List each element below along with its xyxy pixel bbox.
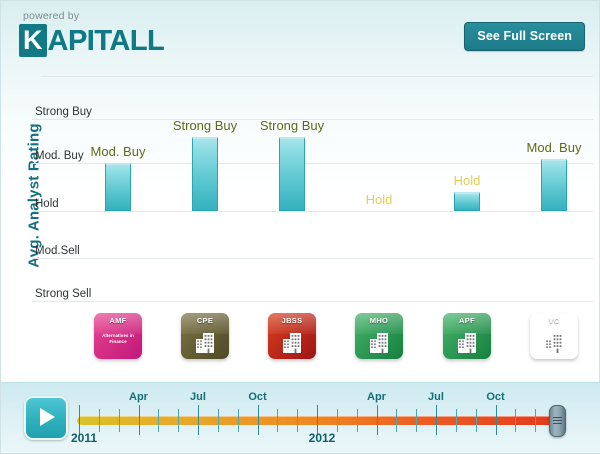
gridline: [32, 211, 593, 212]
ticker-symbol-label: MHO: [355, 316, 403, 325]
ticker-symbol-label: VC: [530, 316, 578, 325]
bar-value-label: Mod. Buy: [527, 140, 582, 155]
timeline-tick-major: [377, 405, 378, 435]
timeline-month-label: Jul: [190, 391, 206, 403]
kapitall-widget: powered by KAPITALL See Full Screen Avg.…: [0, 0, 600, 454]
bar-cpe[interactable]: [192, 137, 218, 211]
building-icon: [543, 331, 565, 353]
ticker-symbol-label: CPE: [181, 316, 229, 325]
timeline-slider-handle[interactable]: [549, 405, 566, 437]
bar-value-label: Hold: [366, 192, 393, 207]
timeline-tick-minor: [456, 409, 457, 432]
building-icon: [281, 331, 303, 353]
bar-value-label: Hold: [454, 173, 481, 188]
timeline-tick-major: [198, 405, 199, 435]
y-axis-tick-label: Mod.Sell: [35, 245, 80, 257]
timeline-tick-minor: [337, 409, 338, 432]
y-axis-tick-label: Strong Sell: [35, 288, 91, 300]
timeline-tick-minor: [396, 409, 397, 432]
timeline-tick-minor: [119, 409, 120, 432]
see-full-screen-button[interactable]: See Full Screen: [464, 22, 585, 51]
plot-area: Strong BuyMod. BuyHoldMod.SellStrong Sel…: [1, 69, 600, 309]
ticker-icon-cpe[interactable]: CPE: [181, 313, 229, 359]
bar-amf[interactable]: [105, 163, 131, 211]
kapitall-logo: KAPITALL: [19, 24, 164, 57]
ticker-icon-vc[interactable]: VC: [530, 313, 578, 359]
timeline-tick-minor: [178, 409, 179, 432]
ticker-symbol-label: AMF: [94, 316, 142, 325]
ticker-icon-amf[interactable]: AMFAlternatives in Finance: [94, 313, 142, 359]
timeline-month-label: Apr: [367, 391, 386, 403]
bar-vc[interactable]: [541, 159, 567, 211]
logo-initial: K: [19, 24, 47, 57]
timeline-tick-minor: [416, 409, 417, 432]
timeline-tick-major: [139, 405, 140, 435]
header: powered by KAPITALL See Full Screen: [1, 1, 600, 69]
logo-wordmark: APITALL: [48, 26, 165, 56]
grip-line: [553, 423, 562, 424]
bar-value-label: Strong Buy: [260, 118, 324, 133]
timeline-control: AprJulOctAprJulOct20112012: [1, 382, 600, 453]
y-axis-tick-label: Mod. Buy: [35, 150, 84, 162]
ticker-icon-jbss[interactable]: JBSS: [268, 313, 316, 359]
ticker-company-name: Alternatives in Finance: [94, 333, 142, 344]
timeline-tick-minor: [238, 409, 239, 432]
building-icon: [194, 331, 216, 353]
timeline-month-label: Jul: [428, 391, 444, 403]
building-icon: [456, 331, 478, 353]
grip-line: [553, 417, 562, 418]
bar-value-label: Strong Buy: [173, 118, 237, 133]
bar-value-label: Mod. Buy: [91, 144, 146, 159]
timeline-month-label: Apr: [129, 391, 148, 403]
play-icon: [40, 408, 55, 426]
timeline-tick-minor: [476, 409, 477, 432]
timeline-tick-minor: [357, 409, 358, 432]
timeline-year-label: 2011: [71, 431, 97, 445]
ticker-symbol-label: JBSS: [268, 316, 316, 325]
ticker-icon-apf[interactable]: APF: [443, 313, 491, 359]
building-icon: [368, 331, 390, 353]
timeline-tick-major: [258, 405, 259, 435]
timeline-tick-minor: [158, 409, 159, 432]
timeline-tick-major: [436, 405, 437, 435]
timeline-year-label: 2012: [309, 431, 336, 445]
timeline-tick-minor: [515, 409, 516, 432]
analyst-rating-chart: Avg. Analyst Rating Strong BuyMod. BuyHo…: [1, 69, 600, 309]
ticker-icon-mho[interactable]: MHO: [355, 313, 403, 359]
gridline: [32, 258, 593, 259]
grip-line: [553, 420, 562, 421]
timeline-month-label: Oct: [248, 391, 266, 403]
ticker-icon-row: AMFAlternatives in FinanceCPEJBSSMHOAPFV…: [1, 313, 600, 373]
timeline-tick-minor: [297, 409, 298, 432]
y-axis-tick-label: Hold: [35, 198, 59, 210]
y-axis-tick-label: Strong Buy: [35, 106, 92, 118]
bar-apf[interactable]: [454, 192, 480, 211]
gridline: [32, 301, 593, 302]
timeline-tick-major: [496, 405, 497, 435]
powered-by-label: powered by: [23, 10, 79, 22]
timeline-tick-minor: [218, 409, 219, 432]
timeline-tick-minor: [535, 409, 536, 432]
timeline-month-label: Oct: [486, 391, 504, 403]
play-button[interactable]: [24, 396, 68, 440]
ticker-symbol-label: APF: [443, 316, 491, 325]
bar-jbss[interactable]: [279, 137, 305, 211]
timeline-tick-minor: [277, 409, 278, 432]
timeline-tick-minor: [99, 409, 100, 432]
